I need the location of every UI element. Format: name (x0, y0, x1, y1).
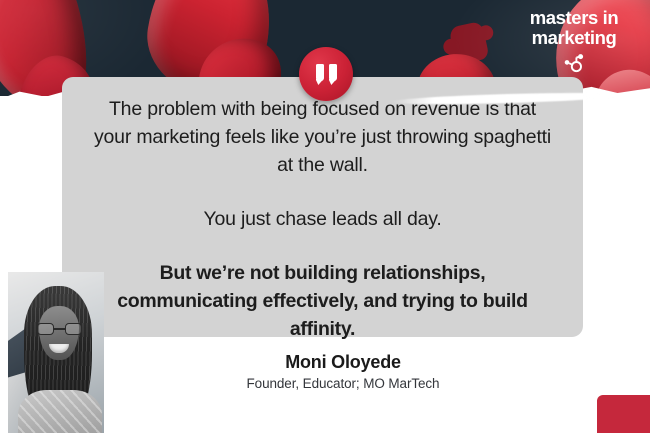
red-corner-block (597, 395, 650, 433)
attribution: Moni Oloyede Founder, Educator; MO MarTe… (103, 352, 583, 391)
quote-text-block: The problem with being focused on revenu… (92, 95, 553, 343)
portrait-photo (8, 272, 104, 433)
quote-card: The problem with being focused on revenu… (62, 77, 583, 337)
portrait-shoulders (18, 390, 102, 433)
quote-paragraph-3: But we’re not building relationships, co… (92, 259, 553, 343)
red-puzzle-piece-icon (448, 21, 489, 65)
attribution-name: Moni Oloyede (103, 352, 583, 373)
glasses-icon (37, 323, 82, 335)
logo-line-1: masters in (508, 8, 640, 28)
quote-paragraph-1: The problem with being focused on revenu… (92, 95, 553, 179)
quote-marks (316, 64, 337, 81)
logo-line-2: marketing (508, 28, 640, 48)
quote-paragraph-2: You just chase leads all day. (92, 205, 553, 233)
quote-graphic: masters in marketing The problem with be… (0, 0, 650, 433)
hubspot-sprocket-icon (508, 52, 640, 74)
masters-in-marketing-logo: masters in marketing (508, 8, 640, 74)
double-quote-icon (299, 47, 353, 101)
attribution-role: Founder, Educator; MO MarTech (103, 376, 583, 391)
